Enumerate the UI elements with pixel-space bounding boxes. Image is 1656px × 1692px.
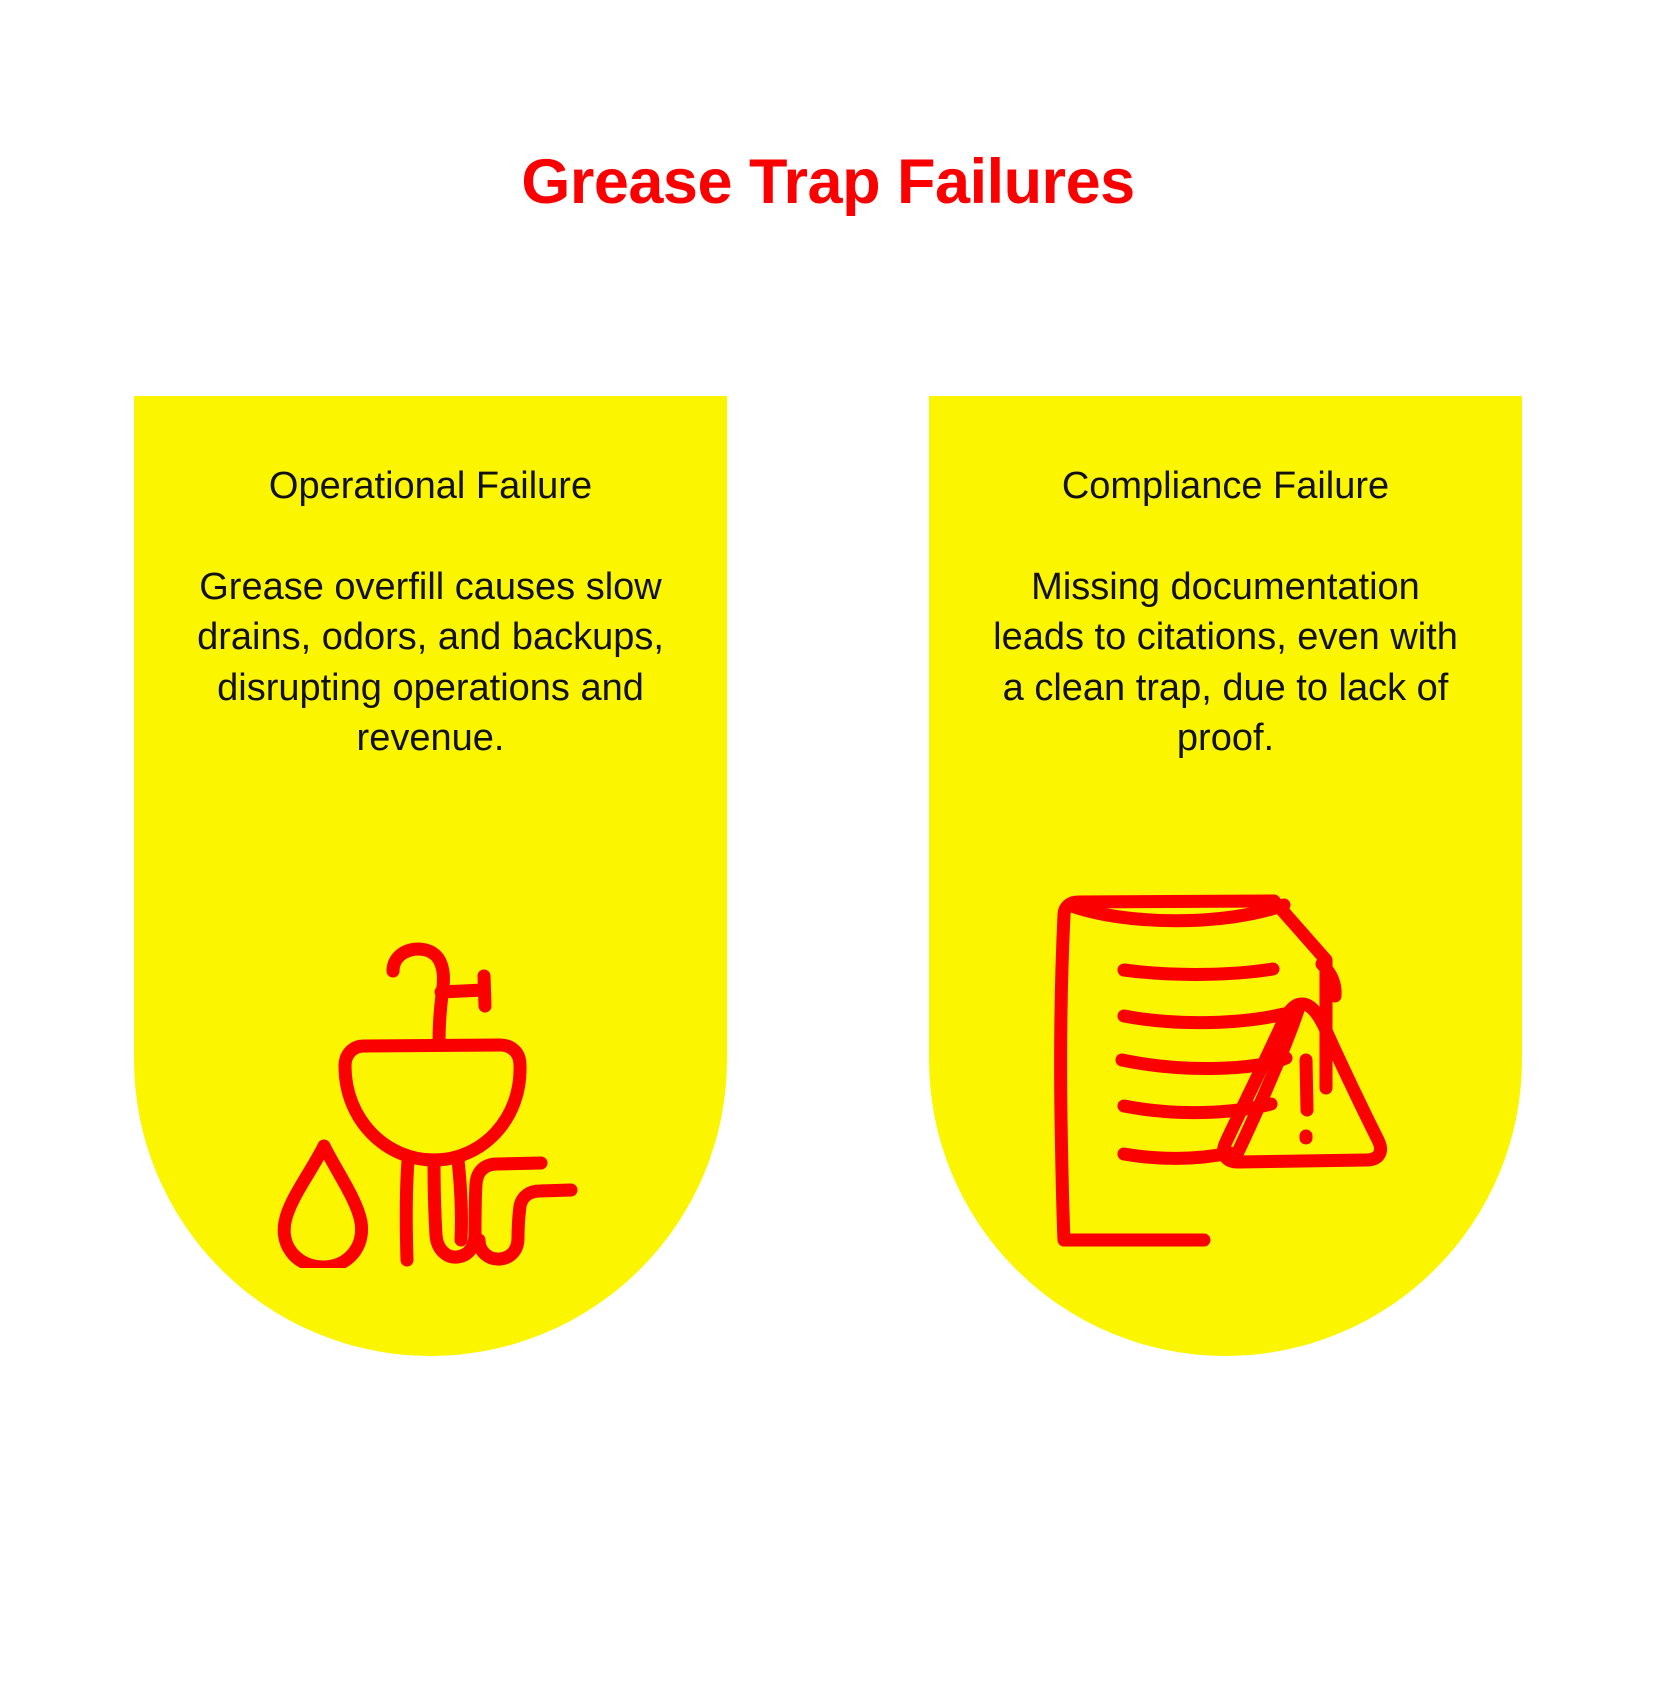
card-operational-failure[interactable]: Operational Failure Grease overfill caus… (134, 396, 727, 1356)
infographic-page: Grease Trap Failures Operational Failure… (0, 0, 1656, 1692)
card-body-text: Grease overfill causes slow drains, odor… (191, 562, 671, 764)
sink-drain-icon (241, 888, 621, 1268)
card-heading: Operational Failure (269, 464, 592, 510)
card-compliance-failure[interactable]: Compliance Failure Missing documentation… (929, 396, 1522, 1356)
cards-row: Operational Failure Grease overfill caus… (134, 396, 1522, 1356)
document-warning-icon (1036, 888, 1416, 1268)
page-title: Grease Trap Failures (0, 148, 1656, 217)
card-heading: Compliance Failure (1062, 464, 1389, 510)
card-body-text: Missing documentation leads to citations… (986, 562, 1466, 764)
